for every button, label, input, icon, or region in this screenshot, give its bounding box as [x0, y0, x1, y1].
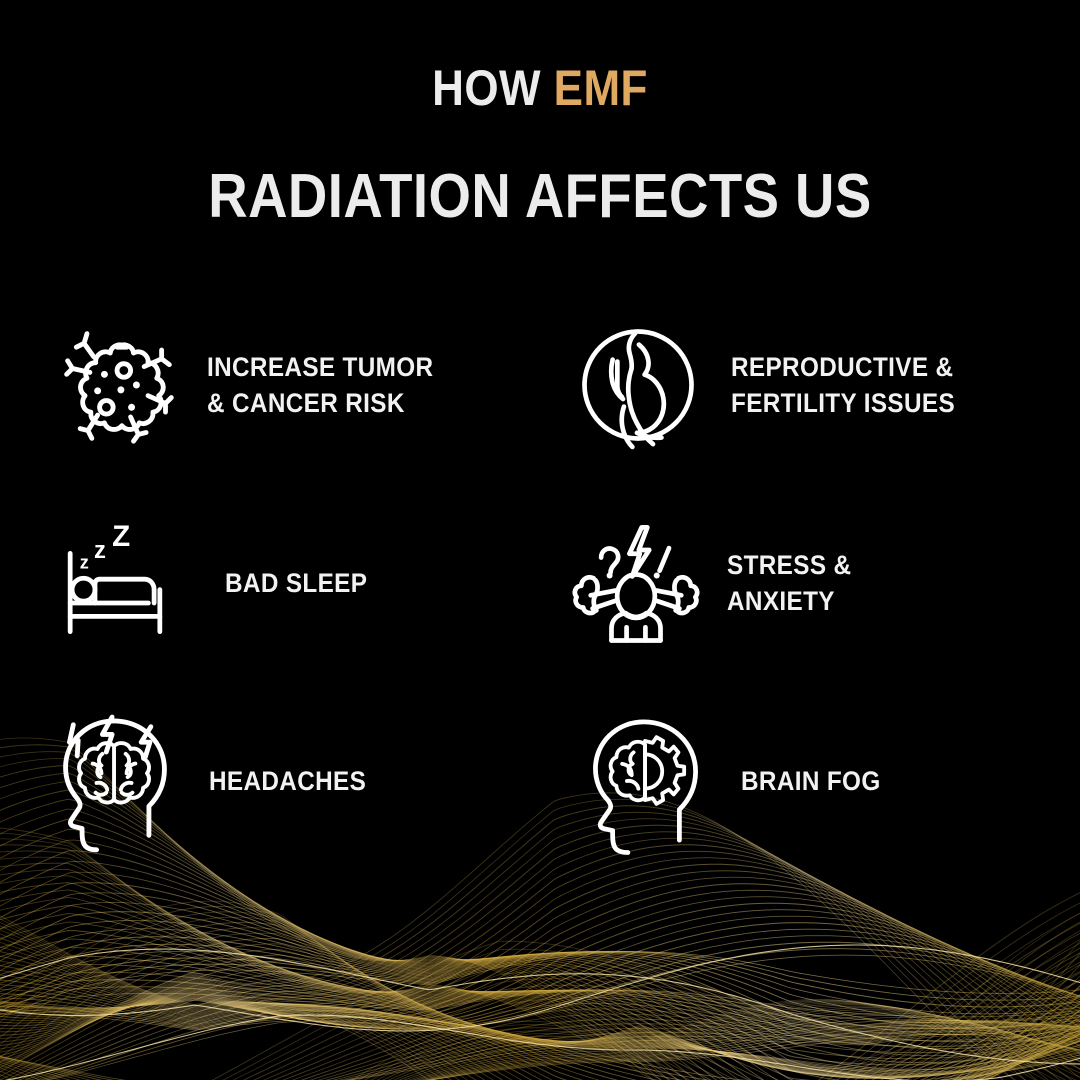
symptom-label: STRESS & ANXIETY — [727, 547, 851, 619]
sleep-z-letters: z z Z — [80, 520, 130, 573]
title-accent-emf: EMF — [554, 60, 648, 116]
pregnant-woman-icon — [563, 310, 713, 460]
symptom-label: BAD SLEEP — [225, 565, 367, 601]
emf-infographic-poster: HOW EMF RADIATION AFFECTS US — [0, 0, 1080, 1080]
brain-shape — [79, 743, 149, 802]
gear-shape — [645, 737, 684, 804]
symptom-item-brain-fog[interactable]: BRAIN FOG — [545, 682, 1035, 880]
symptom-item-tumor-cancer[interactable]: INCREASE TUMOR & CANCER RISK — [45, 286, 535, 484]
head-brain-gear-icon — [575, 706, 717, 856]
symptom-label: INCREASE TUMOR & CANCER RISK — [207, 349, 433, 421]
stressed-person-icon — [557, 508, 715, 658]
svg-text:z: z — [80, 553, 89, 573]
brain-half-shape — [611, 742, 645, 800]
symptom-label: HEADACHES — [209, 763, 366, 799]
page-title-line-2: RADIATION AFFECTS US — [65, 164, 1015, 230]
symptom-item-headaches[interactable]: HEADACHES — [45, 682, 535, 880]
svg-text:Z: Z — [112, 520, 130, 553]
symptom-item-bad-sleep[interactable]: z z Z BAD SLEEP — [45, 484, 535, 682]
symptom-grid: INCREASE TUMOR & CANCER RISK — [0, 286, 1080, 880]
svg-text:z: z — [94, 537, 106, 564]
tumor-cell-icon — [45, 310, 191, 460]
symptom-item-stress-anxiety[interactable]: STRESS & ANXIETY — [545, 484, 1035, 682]
symptom-label: BRAIN FOG — [741, 763, 881, 799]
head-brain-lightning-icon — [45, 706, 185, 856]
symptom-item-reproductive-fertility[interactable]: REPRODUCTIVE & FERTILITY ISSUES — [545, 286, 1035, 484]
symptom-label: REPRODUCTIVE & FERTILITY ISSUES — [731, 349, 955, 421]
page-title-line-1: HOW EMF — [65, 62, 1015, 114]
bed-sleep-icon: z z Z — [45, 508, 185, 658]
title-prefix: HOW — [432, 60, 554, 116]
